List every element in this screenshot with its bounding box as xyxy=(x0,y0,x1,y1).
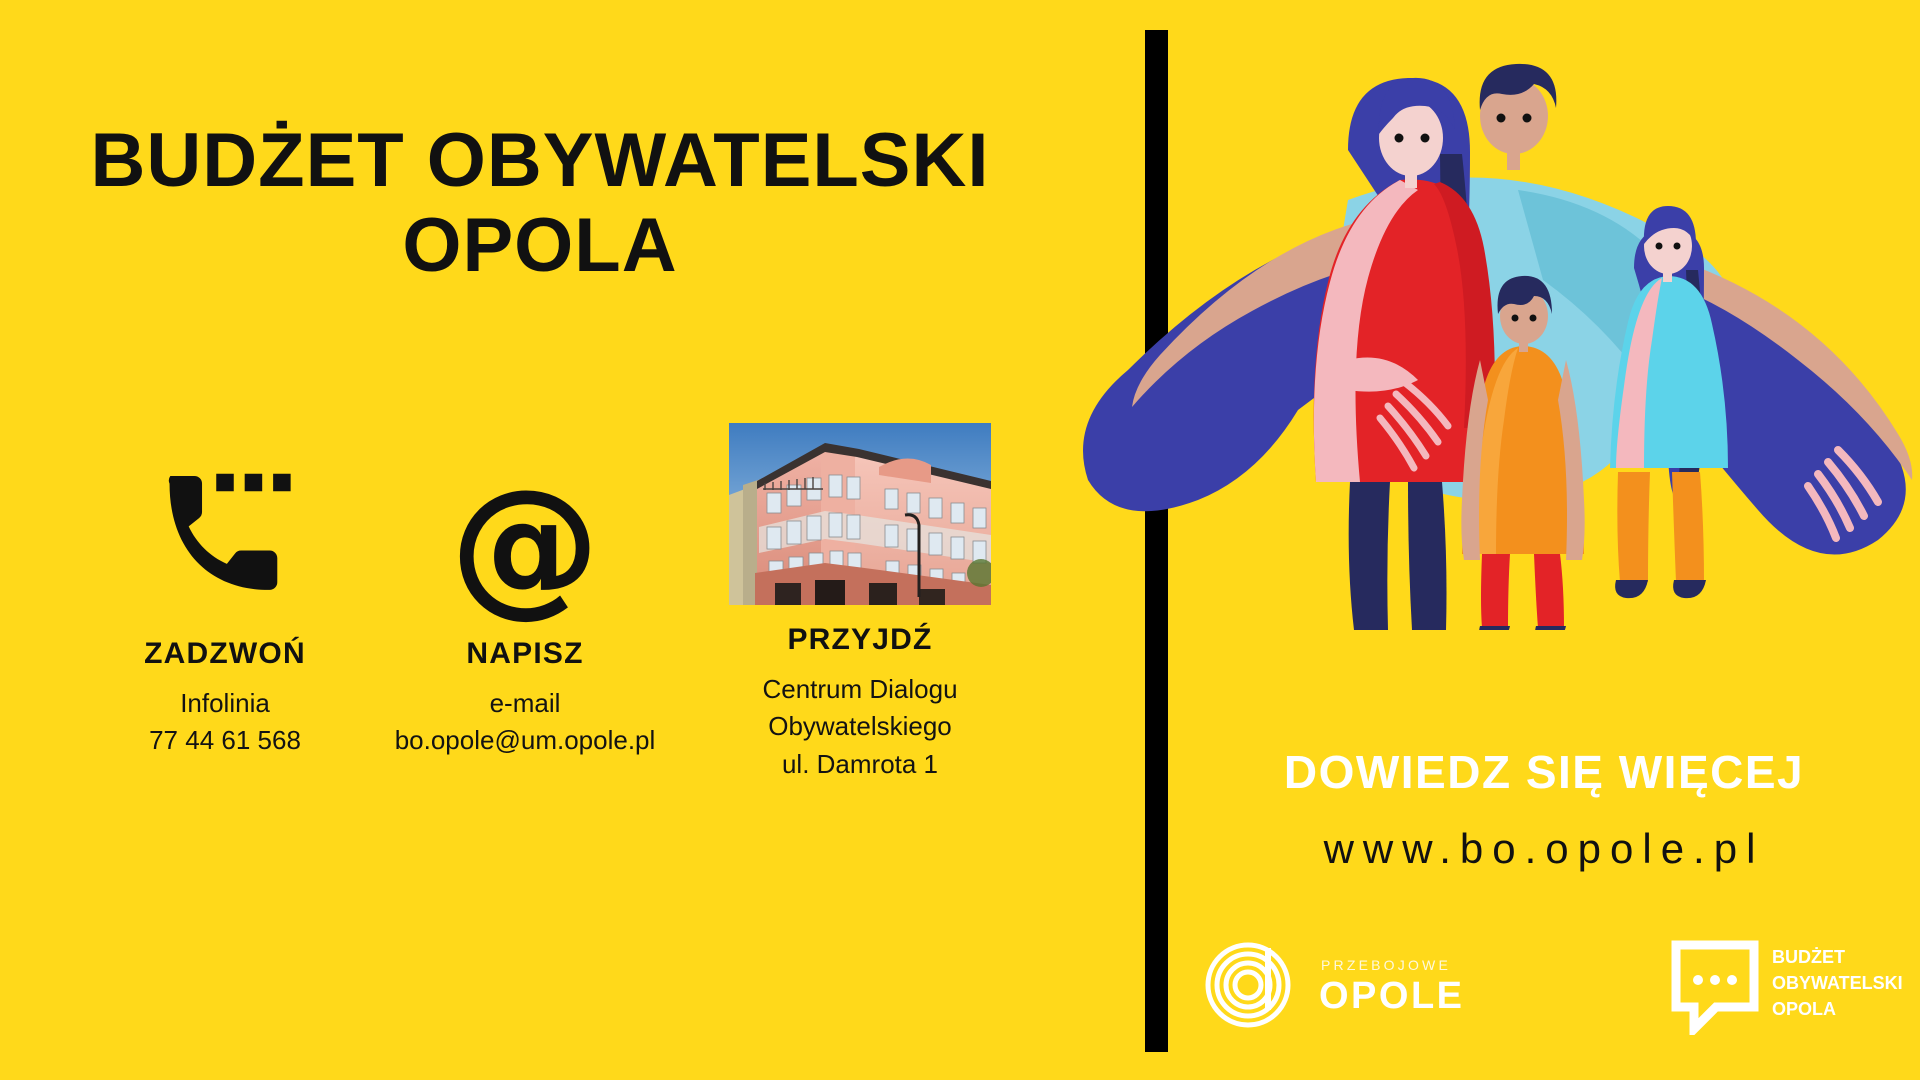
poster-canvas: BUDŻET OBYWATELSKI OPOLA ZADZWOŃ Infolin… xyxy=(0,0,1920,1080)
contact-column-visit: PRZYJDŹ Centrum Dialogu Obywatelskiego u… xyxy=(660,400,1060,783)
phone-icon xyxy=(155,465,295,605)
svg-text:BUDŻET: BUDŻET xyxy=(1772,947,1845,967)
svg-text:OPOLA: OPOLA xyxy=(1772,999,1836,1019)
contact-sub-phone: Infolinia 77 44 61 568 xyxy=(80,685,370,760)
building-photo xyxy=(729,423,991,605)
cta-headline: DOWIEDZ SIĘ WIĘCEJ xyxy=(1168,745,1920,799)
email-label: e-mail xyxy=(370,685,680,722)
phone-label: Infolinia xyxy=(80,685,370,722)
svg-text:OPOLE: OPOLE xyxy=(1319,975,1465,1017)
contact-sub-email: e-mail bo.opole@um.opole.pl xyxy=(370,685,680,760)
building-photo-slot xyxy=(660,400,1060,605)
family-illustration xyxy=(1048,30,1920,630)
page-title: BUDŻET OBYWATELSKI OPOLA xyxy=(0,118,1080,288)
logo-przebojowe-opole[interactable]: PRZEBOJOWE OPOLE xyxy=(1203,940,1503,1030)
svg-text:PRZEBOJOWE: PRZEBOJOWE xyxy=(1321,957,1451,973)
logo-budzet-obywatelski[interactable]: BUDŻET OBYWATELSKI OPOLA xyxy=(1668,935,1918,1035)
phone-icon-slot xyxy=(80,400,370,605)
venue-name-line-2: Obywatelskiego xyxy=(660,708,1060,745)
contact-sub-visit: Centrum Dialogu Obywatelskiego ul. Damro… xyxy=(660,671,1060,783)
venue-name-line-1: Centrum Dialogu xyxy=(660,671,1060,708)
website-url[interactable]: www.bo.opole.pl xyxy=(1168,825,1920,873)
svg-text:OBYWATELSKI: OBYWATELSKI xyxy=(1772,973,1903,993)
title-line-2: OPOLA xyxy=(0,203,1080,288)
at-icon-slot: @ xyxy=(370,400,680,605)
contact-columns: ZADZWOŃ Infolinia 77 44 61 568 @ NAPISZ … xyxy=(60,400,1080,870)
right-panel: DOWIEDZ SIĘ WIĘCEJ www.bo.opole.pl PRZEB… xyxy=(1168,0,1920,1080)
left-panel: BUDŻET OBYWATELSKI OPOLA ZADZWOŃ Infolin… xyxy=(0,0,1145,1080)
contact-heading-visit: PRZYJDŹ xyxy=(660,623,1060,657)
contact-column-email: @ NAPISZ e-mail bo.opole@um.opole.pl xyxy=(370,400,680,760)
contact-heading-phone: ZADZWOŃ xyxy=(80,637,370,671)
contact-heading-email: NAPISZ xyxy=(370,637,680,671)
contact-column-phone: ZADZWOŃ Infolinia 77 44 61 568 xyxy=(80,400,370,760)
phone-number[interactable]: 77 44 61 568 xyxy=(80,722,370,759)
venue-address: ul. Damrota 1 xyxy=(660,746,1060,783)
email-address[interactable]: bo.opole@um.opole.pl xyxy=(370,722,680,759)
at-icon: @ xyxy=(450,485,600,605)
title-line-1: BUDŻET OBYWATELSKI xyxy=(0,118,1080,203)
